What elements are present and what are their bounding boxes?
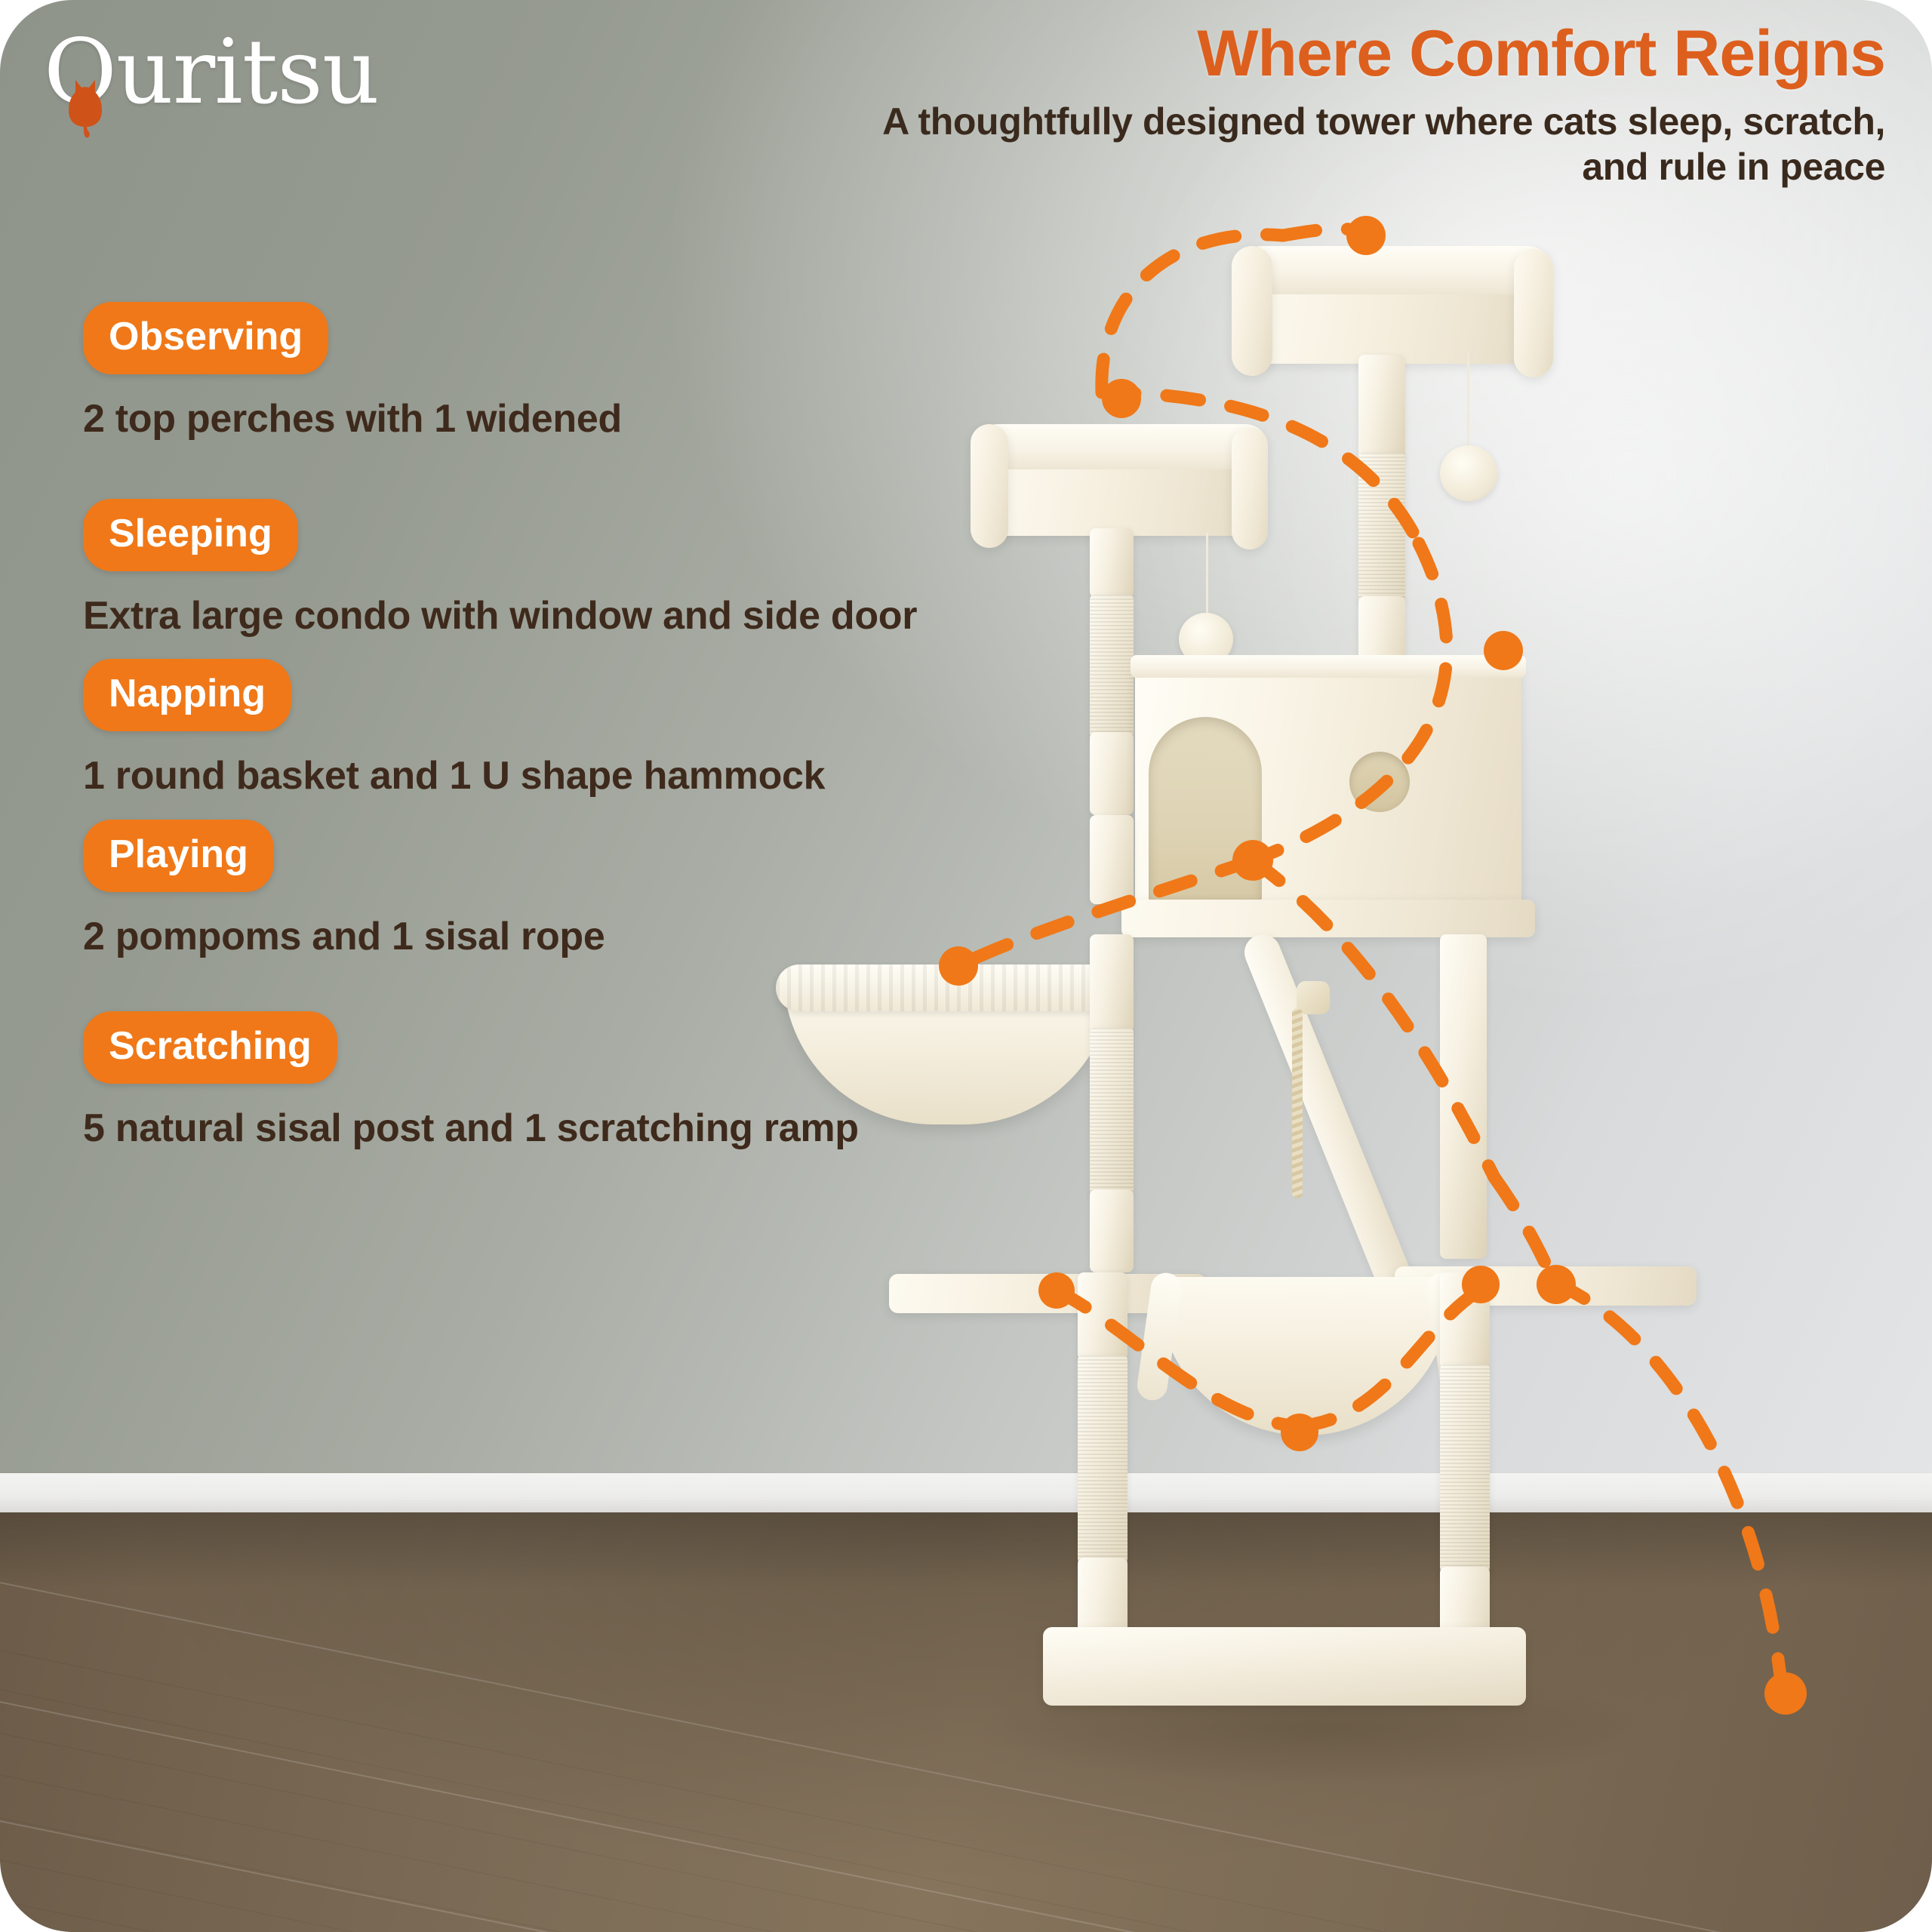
- post-bottom-left-upper: [1078, 1272, 1128, 1360]
- subtitle-line-2: and rule in peace: [663, 144, 1885, 189]
- post-second-perch-lower: [1090, 732, 1134, 815]
- top-perch-second-endrest: [1232, 427, 1268, 549]
- feature-item-scratching: Scratching 5 natural sisal post and 1 sc…: [83, 1011, 974, 1154]
- feature-item-observing: Observing 2 top perches with 1 widened: [83, 302, 974, 445]
- page-title: Where Comfort Reigns: [663, 20, 1885, 88]
- post-center-lower: [1090, 1189, 1134, 1272]
- top-perch-second-cushion: [975, 424, 1268, 469]
- post-top-perch-upper: [1358, 355, 1405, 460]
- scratching-ramp: [1239, 929, 1426, 1321]
- u-shape-hammock: [1158, 1277, 1452, 1435]
- badge-napping[interactable]: Napping: [83, 659, 291, 731]
- feature-list: Observing 2 top perches with 1 widened S…: [83, 302, 974, 1168]
- pompom-upper: [1440, 445, 1497, 501]
- post-second-perch-upper: [1090, 528, 1134, 598]
- page-subtitle: A thoughtfully designed tower where cats…: [663, 99, 1885, 189]
- brand-logo[interactable]: Ouritsu: [44, 27, 379, 116]
- pompom-string-upper: [1467, 352, 1469, 454]
- sisal-post-bottom-right: [1440, 1364, 1490, 1573]
- pompom-string-lower: [1206, 533, 1208, 623]
- sisal-rope-knot: [1297, 981, 1330, 1014]
- feature-item-sleeping: Sleeping Extra large condo with window a…: [83, 499, 974, 641]
- post-center-upper: [1090, 934, 1134, 1032]
- condo-arch-door: [1149, 717, 1262, 901]
- feature-text-observing: 2 top perches with 1 widened: [83, 394, 928, 445]
- product-infographic-card: Ouritsu Where Comfort Reigns A thoughtfu…: [0, 0, 1932, 1932]
- sisal-post-bottom-left: [1078, 1355, 1128, 1564]
- condo-roof: [1131, 655, 1526, 678]
- top-perch-wide-backrest: [1232, 246, 1272, 376]
- feature-text-playing: 2 pompoms and 1 sisal rope: [83, 912, 928, 962]
- feature-item-napping: Napping 1 round basket and 1 U shape ham…: [83, 659, 974, 801]
- badge-sleeping[interactable]: Sleeping: [83, 499, 298, 571]
- badge-observing[interactable]: Observing: [83, 302, 328, 374]
- sisal-post-top: [1358, 453, 1405, 604]
- top-perch-second-backrest: [971, 424, 1008, 548]
- feature-text-sleeping: Extra large condo with window and side d…: [83, 591, 928, 641]
- feature-text-scratching: 5 natural sisal post and 1 scratching ra…: [83, 1103, 928, 1154]
- sisal-post-second: [1090, 595, 1134, 738]
- badge-scratching[interactable]: Scratching: [83, 1011, 337, 1084]
- feature-item-playing: Playing 2 pompoms and 1 sisal rope: [83, 820, 974, 962]
- post-right-upper: [1440, 934, 1487, 1259]
- header-block: Where Comfort Reigns A thoughtfully desi…: [663, 20, 1885, 189]
- top-perch-wide-cushion: [1238, 246, 1552, 294]
- subtitle-line-1: A thoughtfully designed tower where cats…: [663, 99, 1885, 144]
- feature-text-napping: 1 round basket and 1 U shape hammock: [83, 751, 928, 801]
- post-condo-side-upper: [1090, 815, 1134, 904]
- post-bottom-right-upper: [1440, 1272, 1490, 1369]
- base-platform: [1043, 1627, 1526, 1706]
- sisal-post-center: [1090, 1028, 1134, 1195]
- sisal-rope: [1292, 1008, 1303, 1198]
- condo-round-window: [1349, 752, 1410, 812]
- top-perch-wide-endrest: [1514, 249, 1553, 377]
- badge-playing[interactable]: Playing: [83, 820, 274, 892]
- cat-silhouette-icon: [62, 66, 109, 139]
- condo-floor-ledge: [1121, 900, 1535, 937]
